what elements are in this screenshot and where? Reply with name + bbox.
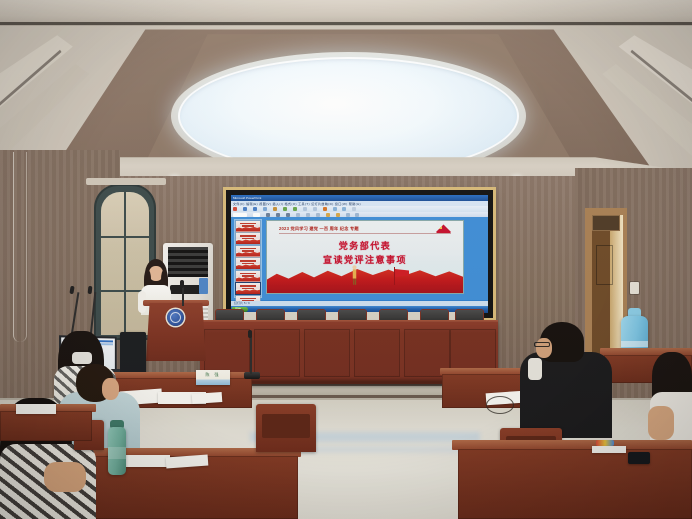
copy-icon[interactable] [283,207,287,211]
slide-header-rule [279,233,451,234]
ppt-status-text: 幻灯片 5 / 9 [234,301,250,305]
vertical-blind-pull-cord[interactable] [13,152,27,342]
wall-light-switch[interactable] [630,282,639,294]
face-mask [72,352,92,364]
cut-icon[interactable] [273,207,277,211]
slide-header-text: 2023 党风学习 建党 一百 周年 纪念 专题 [279,226,359,232]
eyeglasses-icon [534,342,550,347]
numbering-icon[interactable] [336,213,340,217]
desk-front [458,449,692,519]
thermos-band [108,447,126,459]
design-icon[interactable] [355,213,359,217]
help-icon[interactable] [352,207,356,211]
underline-icon[interactable] [286,213,290,217]
podium-mic-stem [182,286,184,306]
ppt-menu-text: 文件(F) 编辑(E) 视图(V) 插入(I) 格式(O) 工具(T) 幻灯片放… [233,202,361,206]
mid-left-man-face [102,378,119,400]
smartphone-on-desk[interactable] [628,452,650,464]
desk-mic-base-right [244,372,260,379]
far-right-woman-arm [648,406,674,440]
ppt-title-text: Microsoft PowerPoint [233,196,261,200]
list-item[interactable] [236,258,260,269]
list-item[interactable] [236,221,260,232]
zoom-icon[interactable] [342,207,346,211]
papers[interactable] [192,392,223,404]
open-icon[interactable] [243,207,247,211]
list-item-selected[interactable] [236,283,260,294]
align-left-icon[interactable] [296,213,300,217]
list-item[interactable] [236,271,260,282]
chair-seat [262,414,310,438]
door-panel [596,245,613,285]
av-speaker-box [120,332,146,376]
current-slide[interactable]: 2023 党风学习 建党 一百 周年 纪念 专题 党务部代表 宣读党评注意事项 [267,221,463,293]
desk-front [0,411,92,441]
papers[interactable] [16,404,56,414]
slide-title-line-2: 宣读党评注意事项 [267,253,463,266]
italic-icon[interactable] [276,213,280,217]
right-man-face [536,338,552,358]
bold-icon[interactable] [266,213,270,217]
seal-inner-ring [170,312,181,323]
window-mullion-horizontal [101,236,149,238]
font-name-box[interactable] [233,213,247,217]
namecard: 陈 强 [196,370,230,385]
table-icon[interactable] [333,207,337,211]
insert-chart-icon[interactable] [323,207,327,211]
screen-content[interactable]: Microsoft PowerPoint 文件(F) 编辑(E) 视图(V) 插… [231,195,488,313]
party-emblem-icon [435,223,452,234]
blind-rail[interactable] [86,178,166,185]
desk-mic-right[interactable] [248,330,252,338]
podium-mic[interactable] [180,280,184,288]
door-transom-grille [592,215,620,231]
red-mountain-silhouette [267,263,463,293]
list-item[interactable] [236,246,260,257]
undo-icon[interactable] [303,207,307,211]
font-size-box[interactable] [253,213,260,217]
print-icon[interactable] [263,207,267,211]
namecard-text: 陈 强 [196,372,230,378]
new-file-icon[interactable] [233,207,237,211]
slide-figure-icon [351,263,358,287]
font-color-icon[interactable] [346,213,350,217]
conference-room-photo: Microsoft PowerPoint 文件(F) 编辑(E) 视图(V) 插… [0,0,692,519]
slide-thumbnail-panel[interactable] [234,219,262,298]
paste-icon[interactable] [293,207,297,211]
ac-badge-icon [199,278,208,294]
papers[interactable] [592,446,626,453]
ceiling-top-groove [0,22,692,25]
front-left-woman-arm [44,462,86,492]
list-item[interactable] [236,233,260,244]
redo-icon[interactable] [313,207,317,211]
bullets-icon[interactable] [326,213,330,217]
right-man-collar [528,358,542,380]
water-barrel-band [621,341,648,347]
ac-grille [168,247,208,277]
desk-mic-stem-right [250,336,252,374]
align-center-icon[interactable] [306,213,310,217]
align-right-icon[interactable] [316,213,320,217]
papers[interactable] [126,455,170,467]
slide-flag-pole [394,267,395,285]
cable-loop [486,396,514,414]
slide-title-line-1: 党务部代表 [267,239,463,252]
save-icon[interactable] [253,207,257,211]
window-mullion-vertical [124,192,126,335]
